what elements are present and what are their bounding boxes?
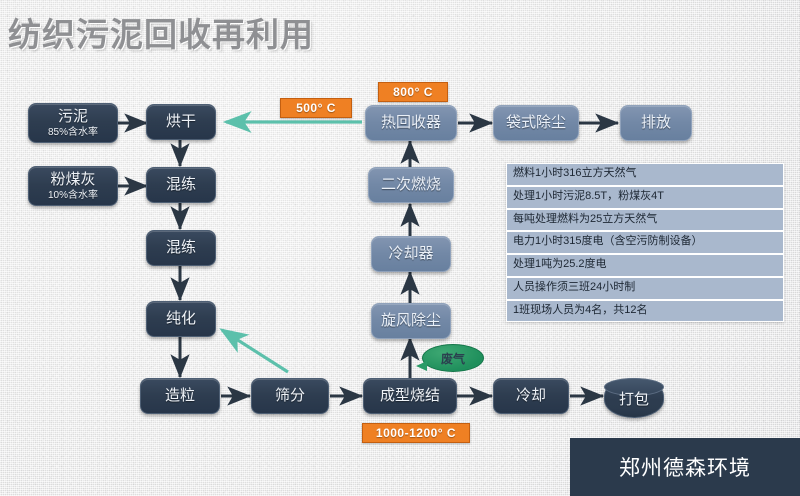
temp-tag-500c: 500° C [280,98,352,118]
node-sludge-sublabel: 85%含水率 [48,127,98,139]
node-screening-label: 筛分 [275,387,305,404]
node-cooling-label: 冷却 [516,387,546,404]
node-granulation-label: 造粒 [165,387,195,404]
node-sintering[interactable]: 成型烧结 [363,378,457,414]
table-row: 燃料1小时316立方天然气 [507,164,783,187]
company-logo-label: 郑州德森环境 [619,452,751,482]
node-drying-label: 烘干 [166,113,196,130]
node-sludge[interactable]: 污泥 85%含水率 [28,103,118,143]
node-granulation[interactable]: 造粒 [140,378,220,414]
table-row: 电力1小时315度电（含空污防制设备） [507,232,783,255]
table-row: 处理1吨为25.2度电 [507,255,783,278]
node-mixing-2-label: 混练 [166,239,196,256]
node-bag-filter[interactable]: 袋式除尘 [493,105,579,141]
node-purification[interactable]: 纯化 [146,301,216,337]
node-sintering-label: 成型烧结 [380,387,440,404]
specifications-table: 燃料1小时316立方天然气 处理1小时污泥8.5T，粉煤灰4T 每吨处理燃料为2… [506,163,784,322]
table-row: 人员操作须三班24小时制 [507,278,783,301]
node-cyclone-dust[interactable]: 旋风除尘 [371,303,451,339]
node-packing-label: 打包 [619,388,649,409]
temp-tag-1000-1200c: 1000-1200° C [362,423,470,443]
node-cyclone-dust-label: 旋风除尘 [381,312,441,329]
node-heat-recovery[interactable]: 热回收器 [365,105,457,141]
node-cooler-label: 冷却器 [388,245,433,262]
table-row: 每吨处理燃料为25立方天然气 [507,210,783,233]
node-mixing-2[interactable]: 混练 [146,230,216,266]
node-flyash-sublabel: 10%含水率 [48,190,98,202]
node-heat-recovery-label: 热回收器 [381,114,441,131]
node-emission-label: 排放 [641,114,671,131]
waste-gas-tail-icon [416,361,427,371]
company-logo: 郑州德森环境 [570,438,800,496]
node-flyash[interactable]: 粉煤灰 10%含水率 [28,166,118,206]
table-row: 处理1小时污泥8.5T，粉煤灰4T [507,187,783,210]
node-emission[interactable]: 排放 [620,105,692,141]
node-secondary-combustion[interactable]: 二次燃烧 [368,167,454,203]
waste-gas-bubble: 废气 [422,344,484,372]
node-packing[interactable]: 打包 [604,378,664,418]
temp-tag-800c: 800° C [378,82,448,102]
node-drying[interactable]: 烘干 [146,104,216,140]
node-secondary-combustion-label: 二次燃烧 [381,176,441,193]
flowchart-canvas: 纺织污泥回收再利用 污泥 85%含水率 粉煤灰 10%含水率 烘干 混练 混练 … [0,0,800,496]
node-bag-filter-label: 袋式除尘 [506,114,566,131]
node-mixing-1[interactable]: 混练 [146,167,216,203]
node-sludge-label: 污泥 [58,108,88,125]
node-screening[interactable]: 筛分 [251,378,329,414]
waste-gas-label: 废气 [441,350,465,367]
page-title: 纺织污泥回收再利用 [8,8,314,56]
node-cooling[interactable]: 冷却 [493,378,569,414]
node-flyash-label: 粉煤灰 [50,171,95,188]
node-purification-label: 纯化 [166,310,196,327]
node-mixing-1-label: 混练 [166,176,196,193]
node-cooler[interactable]: 冷却器 [371,236,451,272]
table-row: 1班现场人员为4名，共12名 [507,301,783,322]
